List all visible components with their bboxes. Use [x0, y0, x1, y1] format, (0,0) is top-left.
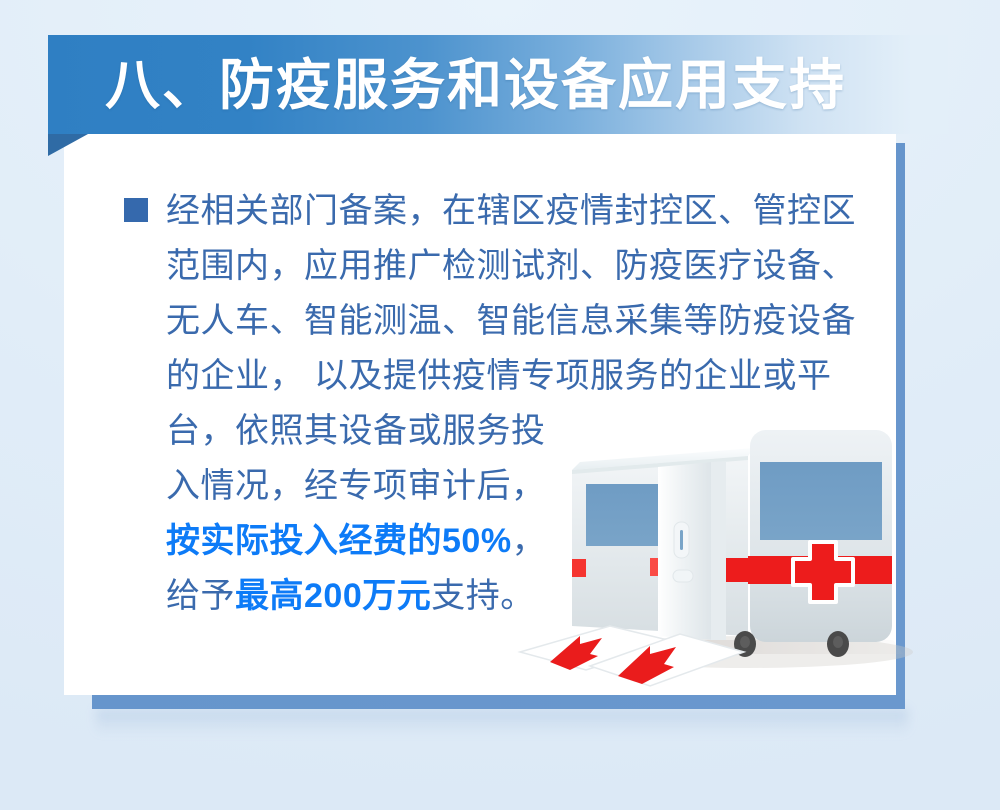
bullet-square-icon [124, 198, 148, 222]
booth-window-right [760, 462, 882, 540]
text-line-4: 的企业， 以及提供疫情专项服务的企业或平 [166, 349, 892, 404]
booth-wheel-left-hub [740, 636, 750, 648]
booth-door-frame [711, 461, 726, 640]
card-drop-shadow [96, 709, 908, 735]
booth-stripe-left [572, 559, 586, 577]
text-line-2: 范围内，应用推广检测试剂、防疫医疗设备、 [166, 239, 892, 294]
booth-stripe-connector [726, 558, 750, 582]
booth-wheel-right-hub [833, 636, 843, 648]
booth-window-left [586, 484, 664, 546]
page-title: 八、防疫服务和设备应用支持 [105, 48, 846, 122]
text-line-1: 经相关部门备案，在辖区疫情封控区、管控区 [166, 184, 892, 239]
highlight-percentage: 按实际投入经费的50% [166, 522, 512, 560]
door-handle-horizontal [673, 570, 693, 582]
medical-booth-illustration [498, 404, 918, 694]
accent-bar-bottom [92, 694, 905, 709]
poster-root: 八、防疫服务和设备应用支持 经相关部门备案，在辖区疫情封控区、管控区 范围内，应… [0, 0, 1000, 810]
highlight-line-2-lead: 给予 [166, 577, 235, 615]
highlight-amount: 最高200万元 [235, 577, 431, 615]
door-handle-indicator [680, 530, 683, 550]
text-line-3: 无人车、智能测温、智能信息采集等防疫设备 [166, 294, 892, 349]
